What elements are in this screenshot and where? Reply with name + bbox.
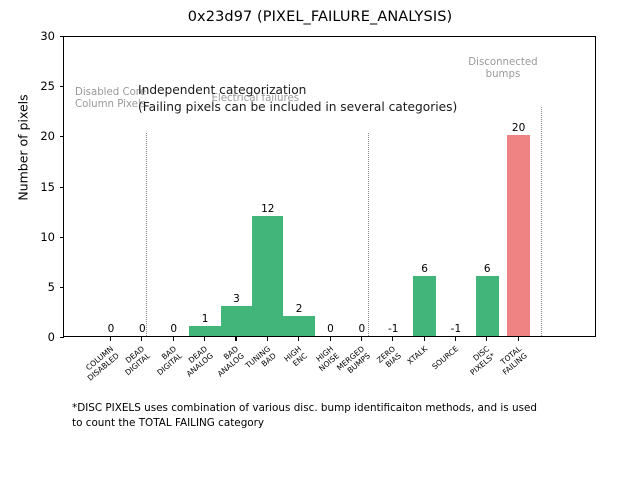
bar-value-label: 6 xyxy=(405,263,445,275)
bar xyxy=(476,276,499,336)
bar xyxy=(507,135,530,336)
x-tick-mark xyxy=(361,337,362,341)
x-tick-mark xyxy=(173,337,174,341)
y-tick-label: 15 xyxy=(22,180,55,194)
y-tick-label: 0 xyxy=(22,330,55,344)
plot-area: 0001312200-16-1620 Disabled CoreColumn P… xyxy=(63,36,596,337)
bar xyxy=(413,276,436,336)
bar-value-label: 12 xyxy=(248,203,288,215)
chart-title: 0x23d97 (PIXEL_FAILURE_ANALYSIS) xyxy=(0,9,640,25)
bar-value-label: 20 xyxy=(499,122,539,134)
y-tick-mark xyxy=(60,337,64,338)
bar-value-label: 1 xyxy=(185,313,225,325)
footnote-line-2: to count the TOTAL FAILING category xyxy=(72,416,592,431)
annotation-line-1: Independent categorization xyxy=(138,82,457,99)
group-annotation: Disconnectedbumps xyxy=(443,57,563,80)
y-tick-label: 30 xyxy=(22,29,55,43)
bar-value-label: 6 xyxy=(467,263,507,275)
x-tick-mark xyxy=(518,337,519,341)
group-separator xyxy=(541,107,542,336)
y-tick-label: 5 xyxy=(22,280,55,294)
x-tick-mark xyxy=(455,337,456,341)
x-tick-mark xyxy=(486,337,487,341)
footnote-line-1: *DISC PIXELS uses combination of various… xyxy=(72,401,592,416)
bar-value-label: 2 xyxy=(279,303,319,315)
y-tick-label: 20 xyxy=(22,129,55,143)
footnote: *DISC PIXELS uses combination of various… xyxy=(72,401,592,430)
bar xyxy=(221,306,252,336)
x-tick-mark xyxy=(235,337,236,341)
plot-inner: 0001312200-16-1620 Disabled CoreColumn P… xyxy=(64,37,595,336)
x-tick-mark xyxy=(298,337,299,341)
y-tick-label: 25 xyxy=(22,79,55,93)
bar-value-label: 3 xyxy=(216,293,256,305)
bar xyxy=(189,326,220,336)
bar xyxy=(252,216,283,336)
y-tick-label: 10 xyxy=(22,230,55,244)
x-tick-mark xyxy=(110,337,111,341)
y-axis-label: Number of pixels xyxy=(16,3,31,293)
x-tick-mark xyxy=(141,337,142,341)
x-tick-mark xyxy=(424,337,425,341)
annotation-line-2: (Failing pixels can be included in sever… xyxy=(138,99,457,116)
x-tick-mark xyxy=(392,337,393,341)
group-separator xyxy=(146,133,147,336)
group-separator xyxy=(368,133,369,336)
bar-value-label: -1 xyxy=(436,323,476,335)
x-tick-mark xyxy=(330,337,331,341)
x-tick-mark xyxy=(267,337,268,341)
chart-figure: 0x23d97 (PIXEL_FAILURE_ANALYSIS) Number … xyxy=(0,0,640,480)
header-annotation: Independent categorization (Failing pixe… xyxy=(138,82,457,116)
bar-value-label: -1 xyxy=(373,323,413,335)
x-tick-mark xyxy=(204,337,205,341)
